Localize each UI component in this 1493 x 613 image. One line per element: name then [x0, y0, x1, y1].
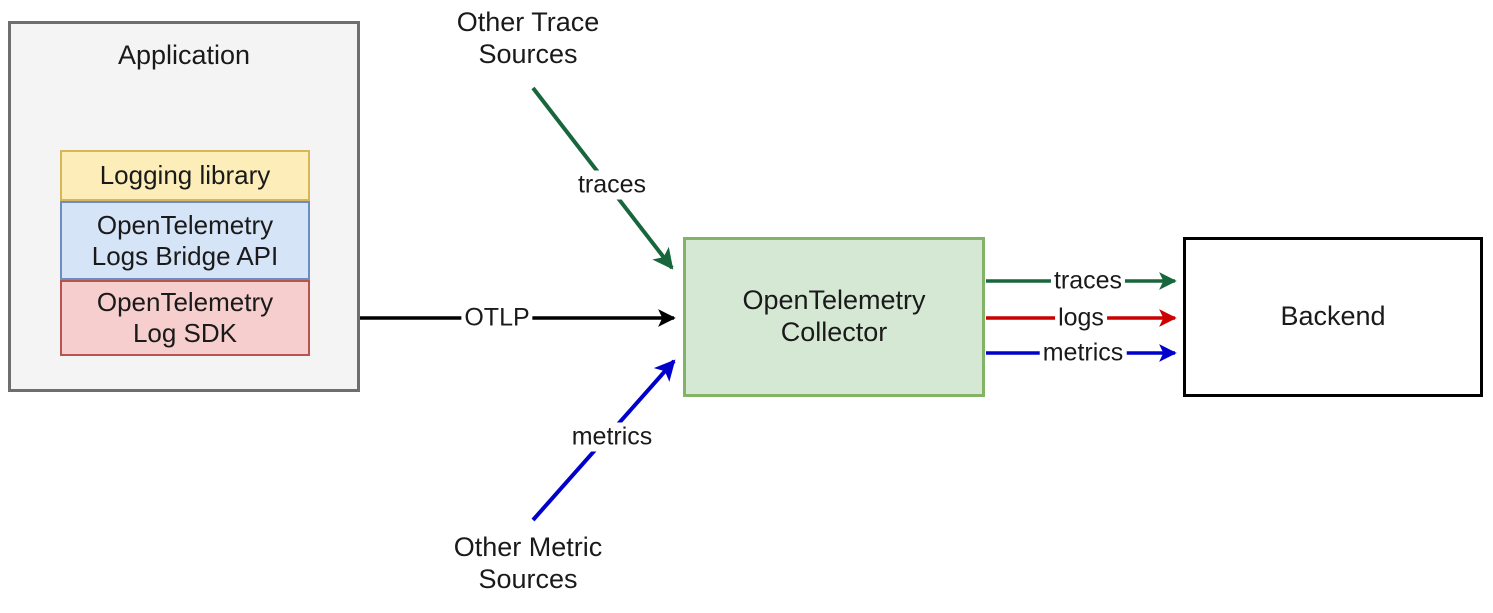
other-metric-sources-label: Other Metric Sources	[428, 531, 628, 596]
backend-label: Backend	[1280, 301, 1385, 333]
opentelemetry-collector-node: OpenTelemetry Collector	[683, 237, 985, 397]
diagram-canvas: Application Logging library OpenTelemetr…	[0, 0, 1493, 613]
logs-bridge-api-node: OpenTelemetry Logs Bridge API	[60, 201, 310, 280]
other-trace-sources-label: Other Trace Sources	[428, 6, 628, 71]
logging-library-node: Logging library	[60, 150, 310, 201]
edge-label-traces-in: traces	[575, 171, 649, 200]
edge-label-traces-out: traces	[1051, 267, 1125, 296]
backend-node: Backend	[1183, 237, 1483, 397]
logging-library-label: Logging library	[100, 160, 271, 191]
opentelemetry-collector-label: OpenTelemetry Collector	[742, 285, 925, 349]
edge-label-metrics-out: metrics	[1040, 339, 1127, 368]
log-sdk-label: OpenTelemetry Log SDK	[97, 287, 273, 348]
log-sdk-node: OpenTelemetry Log SDK	[60, 280, 310, 356]
logs-bridge-api-label: OpenTelemetry Logs Bridge API	[92, 210, 278, 271]
edge-label-otlp: OTLP	[461, 304, 532, 333]
edge-label-metrics-in: metrics	[569, 423, 656, 452]
application-title: Application	[118, 40, 250, 72]
edge-label-logs-out: logs	[1055, 304, 1107, 333]
